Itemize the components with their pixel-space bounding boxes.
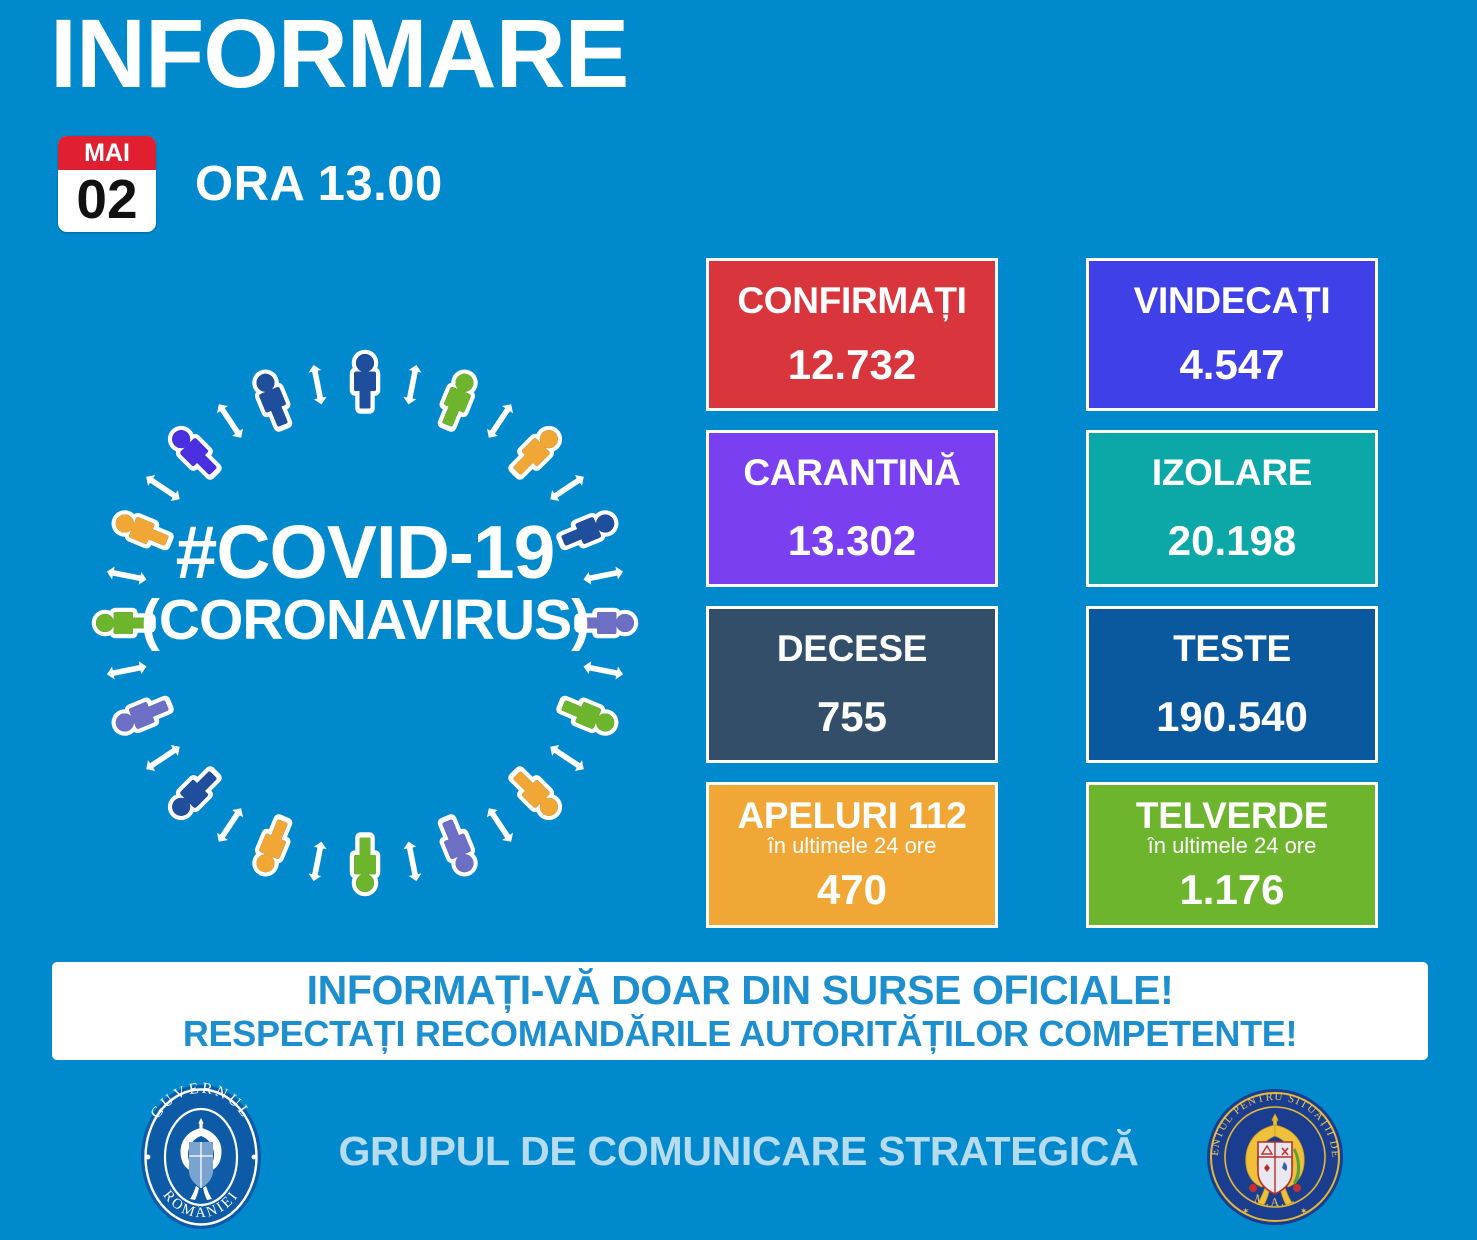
report-time: ORA 13.00 xyxy=(195,156,443,212)
double-arrow-icon xyxy=(105,658,149,682)
circle-people-svg xyxy=(60,318,670,928)
infographic-page: INFORMARE MAI 02 ORA 13.00 xyxy=(0,0,1477,1240)
double-arrow-icon xyxy=(400,839,424,883)
stat-value: 13.302 xyxy=(788,519,916,563)
calendar-day: 02 xyxy=(58,170,156,232)
double-arrow-icon xyxy=(545,470,589,507)
double-arrow-icon xyxy=(581,658,625,682)
stat-label: CARANTINĂ xyxy=(743,454,960,493)
page-title: INFORMARE xyxy=(50,5,628,102)
double-arrow-icon xyxy=(545,740,589,777)
stat-card-confirma-i: CONFIRMAȚI12.732 xyxy=(706,258,998,411)
double-arrow-icon xyxy=(482,803,519,847)
stat-value: 470 xyxy=(817,868,887,912)
stats-grid: CONFIRMAȚI12.732VINDECAȚI4.547CARANTINĂ1… xyxy=(706,258,1378,928)
banner-line-2: RESPECTAȚI RECOMANDĂRILE AUTORITĂȚILOR C… xyxy=(183,1015,1297,1054)
double-arrow-icon xyxy=(212,399,249,443)
svg-text:✶: ✶ xyxy=(1300,1206,1308,1216)
guvernul-romaniei-seal-icon: GUVERNUL ROMÂNIEI xyxy=(126,1082,276,1232)
double-arrow-icon xyxy=(105,564,149,588)
stat-label: APELURI 112 xyxy=(737,797,966,836)
double-arrow-icon xyxy=(306,839,330,883)
stat-value: 12.732 xyxy=(788,343,916,387)
stat-card-vindeca-i: VINDECAȚI4.547 xyxy=(1086,258,1378,411)
stat-value: 755 xyxy=(817,695,887,739)
calendar-month: MAI xyxy=(58,136,156,170)
official-sources-banner: INFORMAȚI-VĂ DOAR DIN SURSE OFICIALE! RE… xyxy=(52,962,1428,1060)
calendar-icon: MAI 02 xyxy=(58,136,156,232)
stat-card-izolare: IZOLARE20.198 xyxy=(1086,430,1378,587)
double-arrow-icon xyxy=(400,363,424,407)
dsu-mai-emblem-icon: DEPARTAMENTUL PENTRU SITUAȚII DE URGENȚĂ… xyxy=(1196,1078,1354,1236)
double-arrow-icon xyxy=(141,740,185,777)
stat-card-decese: DECESE755 xyxy=(706,606,998,763)
stat-label: TESTE xyxy=(1173,630,1291,669)
stat-label: TELVERDE xyxy=(1136,797,1328,836)
stat-card-teste: TESTE190.540 xyxy=(1086,606,1378,763)
stat-card-telverde: TELVERDEîn ultimele 24 ore1.176 xyxy=(1086,782,1378,928)
stat-card-apeluri-112: APELURI 112în ultimele 24 ore470 xyxy=(706,782,998,928)
double-arrow-icon xyxy=(306,363,330,407)
banner-line-1: INFORMAȚI-VĂ DOAR DIN SURSE OFICIALE! xyxy=(307,969,1174,1012)
stat-value: 1.176 xyxy=(1179,868,1284,912)
svg-text:✶: ✶ xyxy=(1242,1206,1250,1216)
stat-value: 4.547 xyxy=(1179,343,1284,387)
stat-label: DECESE xyxy=(777,630,927,669)
double-arrow-icon xyxy=(141,470,185,507)
stat-label: VINDECAȚI xyxy=(1134,282,1331,321)
date-time-bar: MAI 02 ORA 13.00 xyxy=(58,136,443,232)
stat-label: CONFIRMAȚI xyxy=(737,282,966,321)
stat-value: 20.198 xyxy=(1168,519,1296,563)
double-arrow-icon xyxy=(212,803,249,847)
social-distancing-circle-icon: #COVID-19 (CORONAVIRUS) xyxy=(60,318,670,928)
stat-value: 190.540 xyxy=(1156,695,1308,739)
double-arrow-icon xyxy=(482,399,519,443)
stat-sublabel: în ultimele 24 ore xyxy=(1148,834,1317,858)
double-arrow-icon xyxy=(581,564,625,588)
stat-card-carantin: CARANTINĂ13.302 xyxy=(706,430,998,587)
stat-sublabel: în ultimele 24 ore xyxy=(768,834,937,858)
stat-label: IZOLARE xyxy=(1152,454,1312,493)
